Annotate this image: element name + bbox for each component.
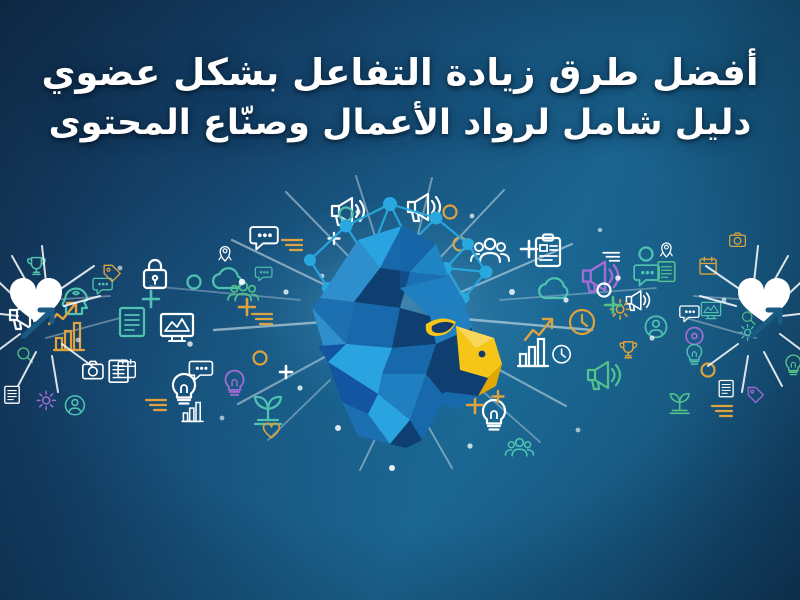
heart-with-arrow-right	[700, 246, 800, 392]
headline-line-2: دليل شامل لرواد الأعمال وصنّاع المحتوى	[18, 98, 782, 148]
heart-with-arrow-left	[0, 246, 100, 392]
hero-banner: أفضل طرق زيادة التفاعل بشكل عضوي دليل شا…	[0, 0, 800, 600]
eagle-graphic	[250, 148, 550, 448]
low-poly-eagle-head	[250, 148, 550, 448]
headline-line-1: أفضل طرق زيادة التفاعل بشكل عضوي	[18, 48, 782, 98]
eagle-polygons	[312, 226, 472, 448]
headline-block: أفضل طرق زيادة التفاعل بشكل عضوي دليل شا…	[0, 48, 800, 148]
